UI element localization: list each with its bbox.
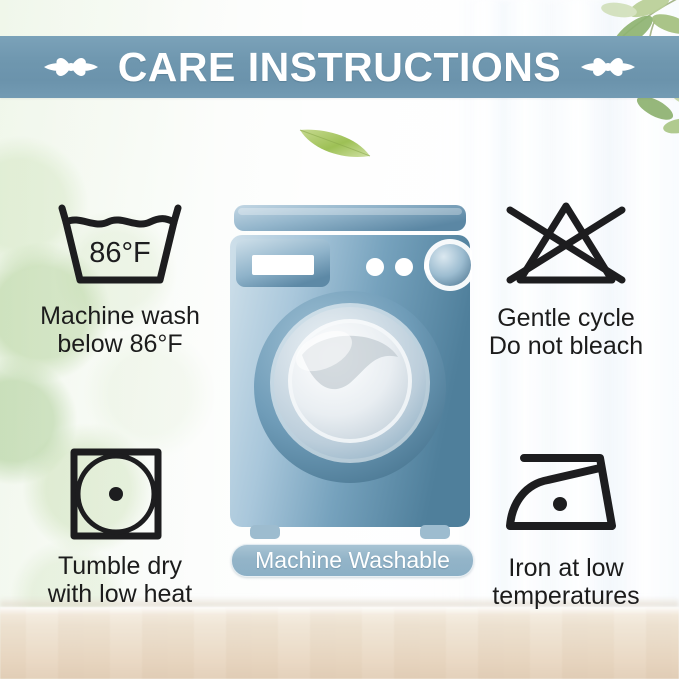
wooden-table-surface — [0, 607, 679, 679]
caption-line-1: Gentle cycle — [489, 304, 643, 332]
triangle-crossed-out-icon — [496, 196, 636, 292]
caption-line-1: Iron at low — [492, 554, 639, 582]
care-symbol-iron: Iron at low temperatures — [460, 446, 672, 610]
caption-line-2: Do not bleach — [489, 332, 643, 360]
indicator-dot — [366, 258, 384, 276]
care-symbol-do-not-bleach: Gentle cycle Do not bleach — [460, 196, 672, 360]
heat-level-dot — [109, 487, 123, 501]
caption-do-not-bleach: Gentle cycle Do not bleach — [489, 304, 643, 360]
caption-line-2: temperatures — [492, 582, 639, 610]
wash-tub-icon: 86°F — [50, 196, 190, 292]
caption-iron: Iron at low temperatures — [492, 554, 639, 610]
caption-line-1: Machine wash — [40, 302, 200, 330]
caption-machine-wash: Machine wash below 86°F — [40, 302, 200, 358]
care-symbol-machine-wash: 86°F Machine wash below 86°F — [12, 196, 228, 358]
header-banner: CARE INSTRUCTIONS — [0, 36, 679, 98]
status-badge: Machine Washable — [231, 544, 474, 577]
page-title: CARE INSTRUCTIONS — [118, 47, 562, 88]
control-knob — [429, 244, 471, 286]
caption-tumble-dry: Tumble dry with low heat — [48, 552, 193, 608]
caption-line-2: below 86°F — [40, 330, 200, 358]
fleur-de-lis-icon — [577, 45, 639, 89]
care-symbol-tumble-dry: Tumble dry with low heat — [12, 446, 228, 608]
caption-line-2: with low heat — [48, 580, 193, 608]
fleur-de-lis-icon — [40, 45, 102, 89]
wash-temperature-value: 86°F — [89, 237, 151, 269]
iron-one-dot-icon — [496, 446, 636, 542]
care-instructions-infographic: CARE INSTRUCTIONS — [0, 0, 679, 679]
washing-machine-icon — [228, 205, 472, 541]
heat-level-dot — [553, 497, 567, 511]
indicator-dot — [395, 258, 413, 276]
tumble-dry-square-icon — [64, 446, 176, 542]
caption-line-1: Tumble dry — [48, 552, 193, 580]
badge-label: Machine Washable — [255, 549, 450, 572]
leaf-icon — [296, 120, 374, 164]
